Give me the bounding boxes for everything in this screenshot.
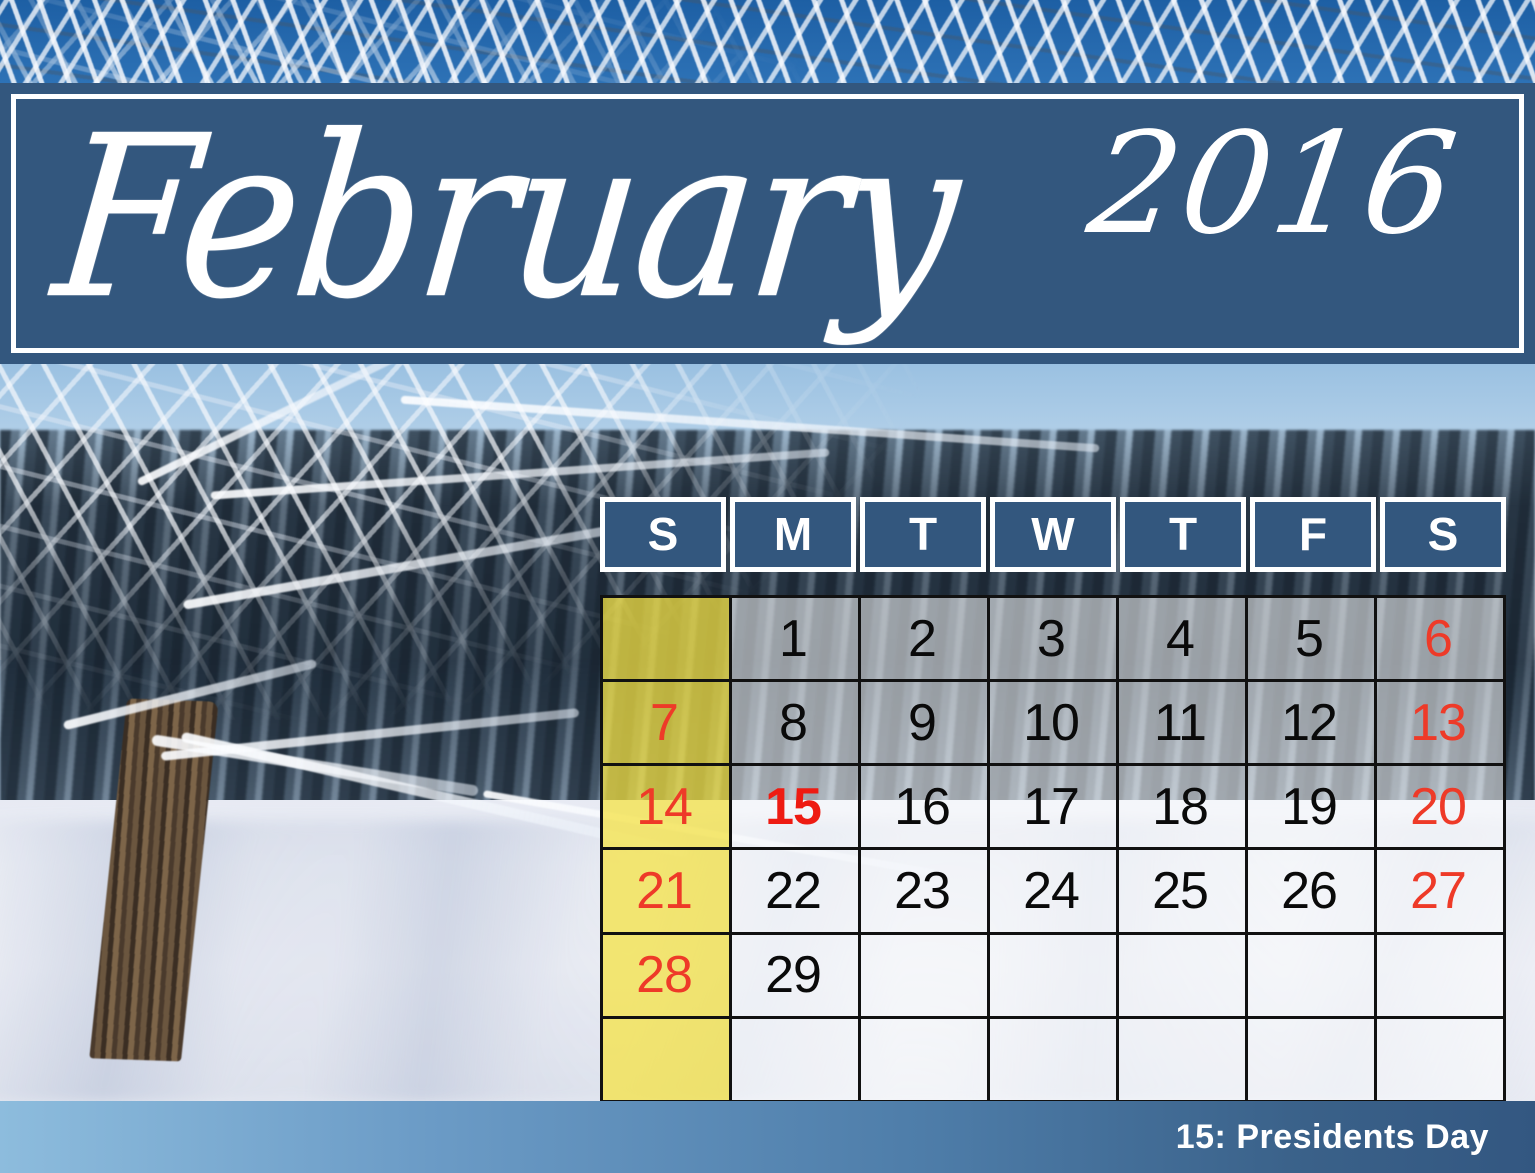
day-cell-20[interactable]: 20: [1377, 766, 1506, 850]
day-cell-16[interactable]: 16: [861, 766, 990, 850]
day-number: 4: [1166, 613, 1198, 665]
day-number: 16: [894, 781, 954, 833]
weekday-header-wednesday: W: [990, 497, 1116, 572]
day-cell-14[interactable]: 14: [603, 766, 732, 850]
day-cell-4[interactable]: 4: [1119, 598, 1248, 682]
day-number: 18: [1152, 781, 1212, 833]
day-cell-empty: [1119, 1019, 1248, 1103]
day-number: 19: [1281, 781, 1341, 833]
month-header-bar: February 2016: [0, 83, 1535, 364]
day-number: 17: [1023, 781, 1083, 833]
day-cell-empty: [603, 1019, 732, 1103]
day-cell-6[interactable]: 6: [1377, 598, 1506, 682]
day-cell-empty: [732, 1019, 861, 1103]
day-cell-29[interactable]: 29: [732, 935, 861, 1019]
day-cell-22[interactable]: 22: [732, 850, 861, 934]
footer-bar: 15: Presidents Day: [0, 1101, 1535, 1173]
year-title: 2016: [1081, 115, 1465, 255]
day-cell-8[interactable]: 8: [732, 682, 861, 766]
day-number: 22: [765, 865, 825, 917]
day-cell-10[interactable]: 10: [990, 682, 1119, 766]
day-number: 15: [765, 781, 825, 833]
day-cell-empty: [1377, 935, 1506, 1019]
day-cell-21[interactable]: 21: [603, 850, 732, 934]
weekday-header-saturday: S: [1380, 497, 1506, 572]
holiday-note: 15: Presidents Day: [1176, 1118, 1535, 1157]
day-number: 13: [1410, 697, 1470, 749]
day-cell-18[interactable]: 18: [1119, 766, 1248, 850]
day-cell-12[interactable]: 12: [1248, 682, 1377, 766]
day-number: 29: [765, 949, 825, 1001]
day-cell-11[interactable]: 11: [1119, 682, 1248, 766]
day-number: 20: [1410, 781, 1470, 833]
day-cell-24[interactable]: 24: [990, 850, 1119, 934]
weekday-header-friday: F: [1250, 497, 1376, 572]
day-number: 26: [1281, 865, 1341, 917]
day-cell-5[interactable]: 5: [1248, 598, 1377, 682]
day-cell-26[interactable]: 26: [1248, 850, 1377, 934]
day-number: 14: [636, 781, 696, 833]
day-cell-empty: [861, 935, 990, 1019]
day-number: 8: [779, 697, 811, 749]
day-cell-empty: [603, 598, 732, 682]
day-cell-15[interactable]: 15: [732, 766, 861, 850]
weekday-header-monday: M: [730, 497, 856, 572]
day-number: 27: [1410, 865, 1470, 917]
weekday-header-tuesday: T: [860, 497, 986, 572]
day-cell-9[interactable]: 9: [861, 682, 990, 766]
day-number: 2: [908, 613, 940, 665]
day-cell-19[interactable]: 19: [1248, 766, 1377, 850]
day-cell-2[interactable]: 2: [861, 598, 990, 682]
day-number: 12: [1281, 697, 1341, 749]
day-cell-empty: [1119, 935, 1248, 1019]
weekday-header-thursday: T: [1120, 497, 1246, 572]
day-cell-empty: [1248, 935, 1377, 1019]
day-cell-25[interactable]: 25: [1119, 850, 1248, 934]
day-cell-empty: [1248, 1019, 1377, 1103]
day-number: 24: [1023, 865, 1083, 917]
day-number: 23: [894, 865, 954, 917]
day-number: 9: [908, 697, 940, 749]
day-number: 7: [650, 697, 682, 749]
day-cell-empty: [990, 935, 1119, 1019]
day-cell-28[interactable]: 28: [603, 935, 732, 1019]
month-title: February: [46, 107, 964, 331]
weekday-header-sunday: S: [600, 497, 726, 572]
day-number: 28: [636, 949, 696, 1001]
day-number: 3: [1037, 613, 1069, 665]
day-cell-3[interactable]: 3: [990, 598, 1119, 682]
day-cell-7[interactable]: 7: [603, 682, 732, 766]
day-number: 1: [779, 613, 811, 665]
day-cell-23[interactable]: 23: [861, 850, 990, 934]
day-number: 5: [1295, 613, 1327, 665]
day-cell-empty: [1377, 1019, 1506, 1103]
day-cell-13[interactable]: 13: [1377, 682, 1506, 766]
day-cell-empty: [990, 1019, 1119, 1103]
day-cell-empty: [861, 1019, 990, 1103]
day-cell-27[interactable]: 27: [1377, 850, 1506, 934]
weekday-header-row: S M T W T F S: [600, 497, 1506, 572]
day-number: 21: [636, 865, 696, 917]
day-number: 25: [1152, 865, 1212, 917]
day-number: 10: [1023, 697, 1083, 749]
day-cell-1[interactable]: 1: [732, 598, 861, 682]
day-number: 11: [1154, 697, 1210, 749]
day-cell-17[interactable]: 17: [990, 766, 1119, 850]
calendar-page: February 2016 S M T W T F S 123456789101…: [0, 0, 1535, 1173]
date-grid: 1234567891011121314151617181920212223242…: [600, 595, 1506, 1103]
day-number: 6: [1424, 613, 1456, 665]
